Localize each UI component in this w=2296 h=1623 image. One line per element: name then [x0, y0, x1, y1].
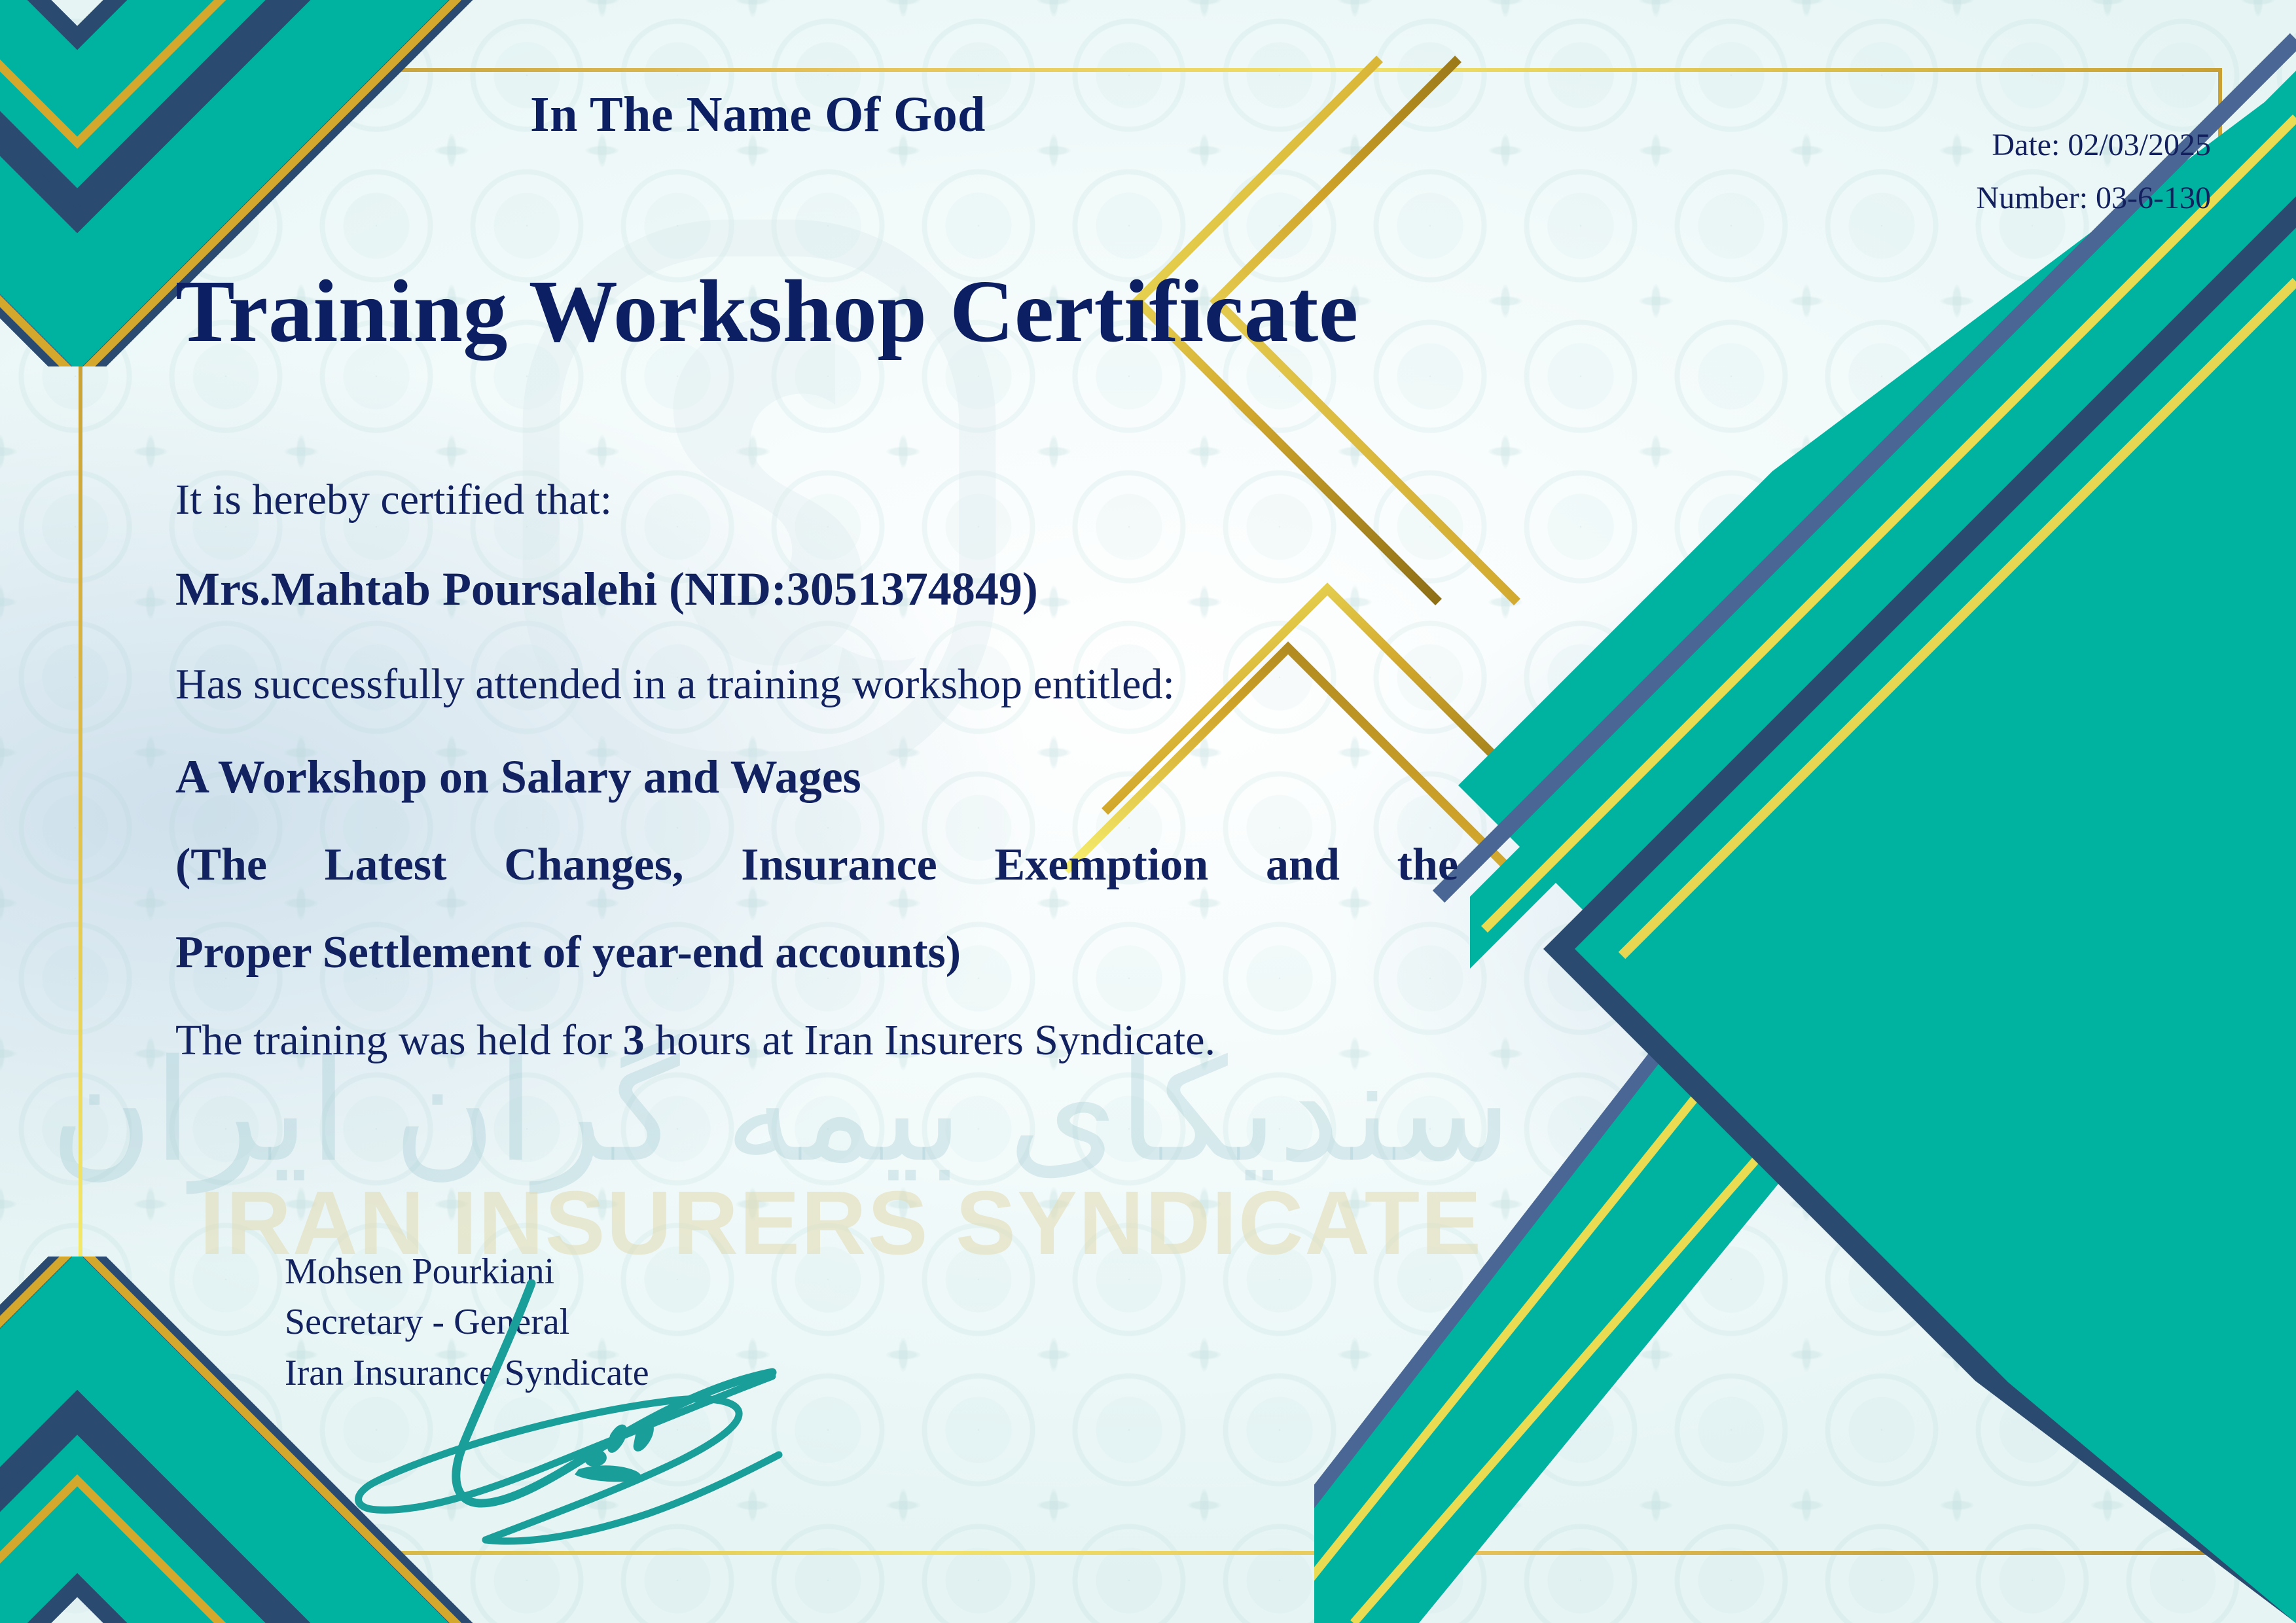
ornament-star-icon — [886, 1337, 921, 1372]
ornament-star-icon — [0, 584, 18, 620]
ornament-star-icon — [584, 0, 620, 18]
ornament-star-icon — [133, 735, 168, 770]
workshop-title: A Workshop on Salary and Wages — [175, 750, 861, 804]
ornament-star-icon — [886, 0, 921, 18]
ornament-star-icon — [1036, 0, 1071, 18]
ornament-star-icon — [886, 1186, 921, 1222]
bismillah-heading: In The Name Of God — [530, 86, 986, 143]
page-title: Training Workshop Certificate — [175, 263, 1359, 361]
right-teal-main-shape — [1314, 0, 2296, 1623]
handwritten-signature-icon — [314, 1279, 812, 1554]
ornament-star-icon — [434, 434, 469, 469]
ornament-star-icon — [1187, 1186, 1222, 1222]
ornament-star-icon — [133, 885, 168, 921]
ornament-star-icon — [434, 1186, 469, 1222]
ornament-star-icon — [735, 0, 770, 18]
ornament-star-icon — [1187, 1337, 1222, 1372]
ornament-star-icon — [1036, 1186, 1071, 1222]
certificate-page: سندیکای بیمه گران ایران IRAN INSURERS SY… — [0, 0, 2296, 1623]
duration-suffix: hours at Iran Insurers Syndicate. — [645, 1016, 1215, 1064]
ornament-star-icon — [1036, 1337, 1071, 1372]
workshop-subtitle-line1: (The Latest Changes, Insurance Exemption… — [175, 839, 1458, 891]
training-duration-line: The training was held for 3 hours at Ira… — [175, 1016, 1215, 1065]
ornament-star-icon — [133, 1186, 168, 1222]
ornament-star-icon — [283, 1186, 319, 1222]
ornament-star-icon — [0, 735, 18, 770]
ornament-star-icon — [0, 434, 18, 469]
duration-prefix: The training was held for — [175, 1016, 623, 1064]
ornament-star-icon — [0, 1186, 18, 1222]
duration-hours: 3 — [623, 1016, 645, 1064]
recipient-name: Mrs.Mahtab Poursalehi (NID:3051374849) — [175, 562, 1038, 616]
ornament-star-icon — [133, 1036, 168, 1071]
ornament-star-icon — [133, 584, 168, 620]
ornament-star-icon — [0, 885, 18, 921]
ornament-star-icon — [584, 1186, 620, 1222]
body-attended: Has successfully attended in a training … — [175, 660, 1175, 709]
ornament-star-icon — [283, 434, 319, 469]
body-intro: It is hereby certified that: — [175, 475, 612, 525]
ornament-star-icon — [0, 1036, 18, 1071]
ornament-star-icon — [735, 1186, 770, 1222]
ornament-star-icon — [1036, 1488, 1071, 1523]
ornament-star-icon — [886, 1488, 921, 1523]
workshop-subtitle-line2: Proper Settlement of year-end accounts) — [175, 927, 961, 979]
ornament-star-icon — [1187, 1488, 1222, 1523]
ornament-star-icon — [133, 434, 168, 469]
ornament-star-icon — [1187, 0, 1222, 18]
